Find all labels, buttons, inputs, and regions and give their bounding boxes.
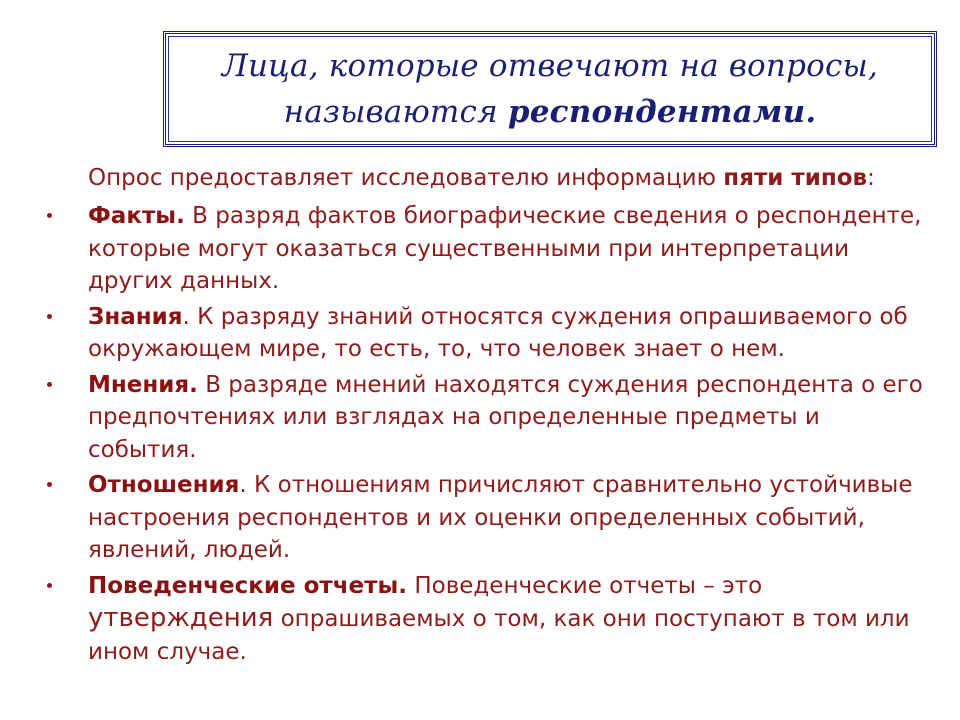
slide-title: Лица, которые отвечают на вопросы, назыв… bbox=[169, 43, 931, 135]
bullet-dot-icon bbox=[47, 382, 52, 387]
bullet-term: Знания bbox=[88, 304, 183, 330]
bullet-text: . К разряду знаний относятся суждения оп… bbox=[88, 304, 908, 363]
title-box-inner: Лица, которые отвечают на вопросы, назыв… bbox=[168, 36, 932, 142]
bullet-text-emphasis: утверждения bbox=[88, 603, 273, 633]
intro-suffix: : bbox=[867, 165, 875, 191]
bullet-text: В разряде мнений находятся суждения респ… bbox=[88, 372, 923, 463]
intro-strong: пяти типов bbox=[723, 165, 867, 191]
title-line-1: Лица, которые отвечают на вопросы, bbox=[222, 48, 878, 84]
list-item: Факты. В разряд фактов биографические св… bbox=[0, 200, 960, 298]
bullet-term: Поведенческие отчеты. bbox=[88, 573, 407, 599]
bullet-dot-icon bbox=[47, 314, 52, 319]
bullet-dot-icon bbox=[47, 213, 52, 218]
bullet-dot-icon bbox=[47, 583, 52, 588]
list-item: Поведенческие отчеты. Поведенческие отче… bbox=[0, 570, 960, 669]
body-content: Опрос предоставляет исследователю информ… bbox=[0, 162, 960, 671]
title-box: Лица, которые отвечают на вопросы, назыв… bbox=[163, 31, 937, 147]
bullet-term: Отношения bbox=[88, 472, 239, 498]
list-item: Отношения. К отношениям причисляют сравн… bbox=[0, 469, 960, 567]
title-line-2-prefix: называются bbox=[284, 94, 508, 130]
bullet-term: Мнения. bbox=[88, 372, 198, 398]
intro-paragraph: Опрос предоставляет исследователю информ… bbox=[0, 162, 960, 194]
intro-prefix: Опрос предоставляет исследователю информ… bbox=[88, 165, 723, 191]
bullet-text-lead: Поведенческие отчеты – это bbox=[407, 573, 762, 599]
bullet-list: Факты. В разряд фактов биографические св… bbox=[0, 200, 960, 668]
bullet-dot-icon bbox=[47, 482, 52, 487]
bullet-term: Факты. bbox=[88, 203, 185, 229]
list-item: Мнения. В разряде мнений находятся сужде… bbox=[0, 369, 960, 467]
bullet-text: В разряд фактов биографические сведения … bbox=[88, 203, 921, 294]
title-line-2-strong: респондентами. bbox=[508, 94, 816, 130]
list-item: Знания. К разряду знаний относятся сужде… bbox=[0, 301, 960, 366]
